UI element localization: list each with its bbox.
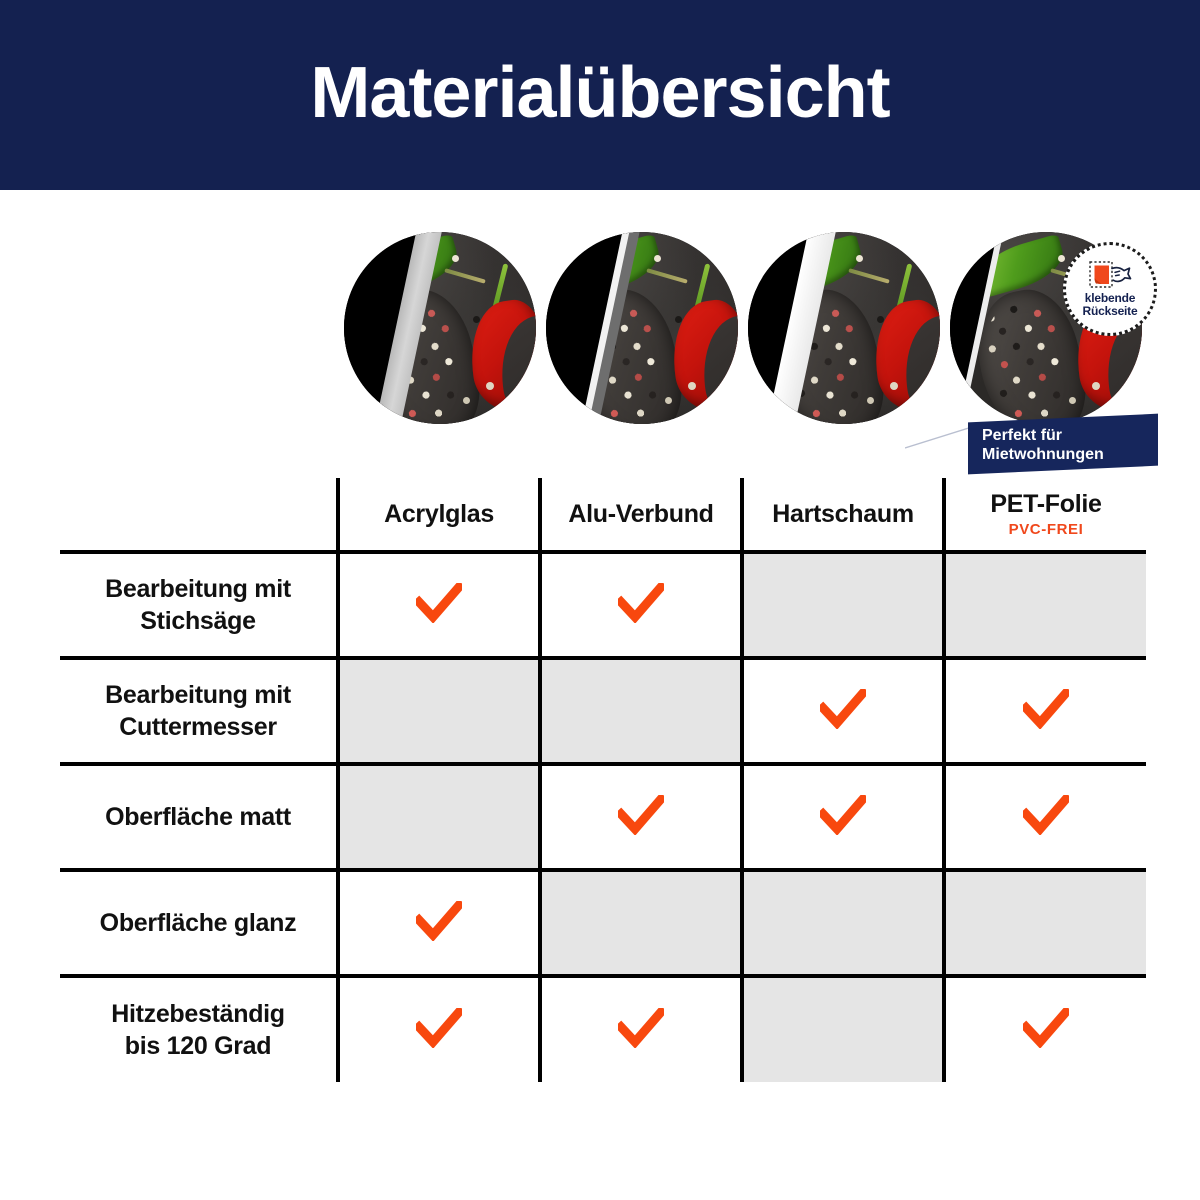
check-icon xyxy=(618,583,664,623)
klebende-rueckseite-icon xyxy=(1088,260,1132,290)
check-icon xyxy=(618,795,664,835)
ribbon-line2: Mietwohnungen xyxy=(982,446,1104,463)
table-cell xyxy=(742,658,944,764)
table-row: Oberfläche matt xyxy=(60,764,1146,870)
table-cell xyxy=(742,552,944,658)
check-icon xyxy=(820,689,866,729)
column-header-label: Hartschaum xyxy=(744,500,942,529)
table-header-row: Acrylglas Alu-Verbund Hartschaum PET-Fol… xyxy=(60,478,1146,552)
row-label-3: Oberfläche matt xyxy=(60,764,338,870)
product-thumb-alu-verbund[interactable] xyxy=(546,232,738,424)
table-cell xyxy=(944,976,1146,1082)
ribbon-perfekt-fuer-mietwohnungen: Perfekt für Mietwohnungen xyxy=(968,414,1158,475)
column-header-label: PET-Folie xyxy=(946,490,1146,519)
check-icon xyxy=(1023,795,1069,835)
table-cell xyxy=(338,870,540,976)
row-label-5: Hitzebeständigbis 120 Grad xyxy=(60,976,338,1082)
table-row: Bearbeitung mitCuttermesser xyxy=(60,658,1146,764)
table-cell xyxy=(742,870,944,976)
table-row: Hitzebeständigbis 120 Grad xyxy=(60,976,1146,1082)
table-cell xyxy=(944,552,1146,658)
column-header-label: Alu-Verbund xyxy=(542,500,740,529)
leaf-stem-shape xyxy=(848,268,890,283)
table-cell xyxy=(540,658,742,764)
check-icon xyxy=(1023,1008,1069,1048)
stray-peppercorn xyxy=(890,382,898,390)
table-cell xyxy=(944,764,1146,870)
check-icon xyxy=(1023,689,1069,729)
stray-peppercorn xyxy=(452,255,459,262)
stray-peppercorn xyxy=(654,255,661,262)
column-header-alu-verbund: Alu-Verbund xyxy=(540,478,742,552)
column-header-pet-folie: PET-Folie PVC-FREI xyxy=(944,478,1146,552)
row-label-line1: Oberfläche matt xyxy=(105,803,291,831)
table-body: Bearbeitung mitStichsägeBearbeitung mitC… xyxy=(60,552,1146,1082)
column-header-acrylglas: Acrylglas xyxy=(338,478,540,552)
column-header-hartschaum: Hartschaum xyxy=(742,478,944,552)
table-cell xyxy=(338,764,540,870)
ribbon-line1: Perfekt für xyxy=(982,427,1062,444)
badge-line1: klebende xyxy=(1085,291,1135,305)
leaf-stem-shape xyxy=(444,268,486,283)
table-row: Oberfläche glanz xyxy=(60,870,1146,976)
badge-klebende-rueckseite: klebende Rückseite xyxy=(1063,242,1157,336)
stray-peppercorn xyxy=(486,382,494,390)
row-label-1: Bearbeitung mitStichsäge xyxy=(60,552,338,658)
check-icon xyxy=(820,795,866,835)
stray-peppercorn xyxy=(856,255,863,262)
material-comparison-table: Acrylglas Alu-Verbund Hartschaum PET-Fol… xyxy=(60,478,1146,1082)
check-icon xyxy=(416,583,462,623)
table-head: Acrylglas Alu-Verbund Hartschaum PET-Fol… xyxy=(60,478,1146,552)
material-overview-page: Materialübersicht xyxy=(0,0,1200,1200)
row-label-line2: bis 120 Grad xyxy=(125,1032,271,1060)
table-cell xyxy=(944,870,1146,976)
table-cell xyxy=(540,764,742,870)
ribbon-tail xyxy=(905,424,975,450)
table-cell xyxy=(944,658,1146,764)
row-label-line1: Bearbeitung mit xyxy=(105,681,291,709)
header-corner-blank xyxy=(60,478,338,552)
table-row: Bearbeitung mitStichsäge xyxy=(60,552,1146,658)
table-cell xyxy=(540,552,742,658)
product-thumb-acrylglas[interactable] xyxy=(344,232,536,424)
stray-peppercorn xyxy=(688,382,696,390)
table-cell xyxy=(338,658,540,764)
check-icon xyxy=(416,1008,462,1048)
ribbon-label: Perfekt für Mietwohnungen xyxy=(968,426,1104,464)
check-icon xyxy=(618,1008,664,1048)
row-label-line1: Bearbeitung mit xyxy=(105,575,291,603)
table-cell xyxy=(540,976,742,1082)
stray-peppercorn xyxy=(1058,255,1065,262)
header-banner: Materialübersicht xyxy=(0,0,1200,190)
leaf-stem-shape xyxy=(646,268,688,283)
badge-line2: Rückseite xyxy=(1083,304,1138,318)
stray-peppercorn xyxy=(1092,382,1100,390)
column-header-label: Acrylglas xyxy=(340,500,538,529)
check-icon xyxy=(416,901,462,941)
row-label-line2: Stichsäge xyxy=(140,607,255,635)
table-cell xyxy=(338,552,540,658)
table-cell xyxy=(540,870,742,976)
table-cell xyxy=(742,976,944,1082)
table-cell xyxy=(338,976,540,1082)
page-title: Materialübersicht xyxy=(0,50,1200,136)
row-label-2: Bearbeitung mitCuttermesser xyxy=(60,658,338,764)
column-header-sublabel-pvc-frei: PVC-FREI xyxy=(946,520,1146,539)
row-label-line1: Oberfläche glanz xyxy=(100,909,297,937)
row-label-line1: Hitzebeständig xyxy=(111,1000,285,1028)
product-image-row xyxy=(340,232,1150,428)
row-label-line2: Cuttermesser xyxy=(119,713,277,741)
badge-label: klebende Rückseite xyxy=(1083,292,1138,318)
table-cell xyxy=(742,764,944,870)
material-comparison-table-wrap: Acrylglas Alu-Verbund Hartschaum PET-Fol… xyxy=(60,478,1146,1086)
row-label-4: Oberfläche glanz xyxy=(60,870,338,976)
product-thumb-hartschaum[interactable] xyxy=(748,232,940,424)
